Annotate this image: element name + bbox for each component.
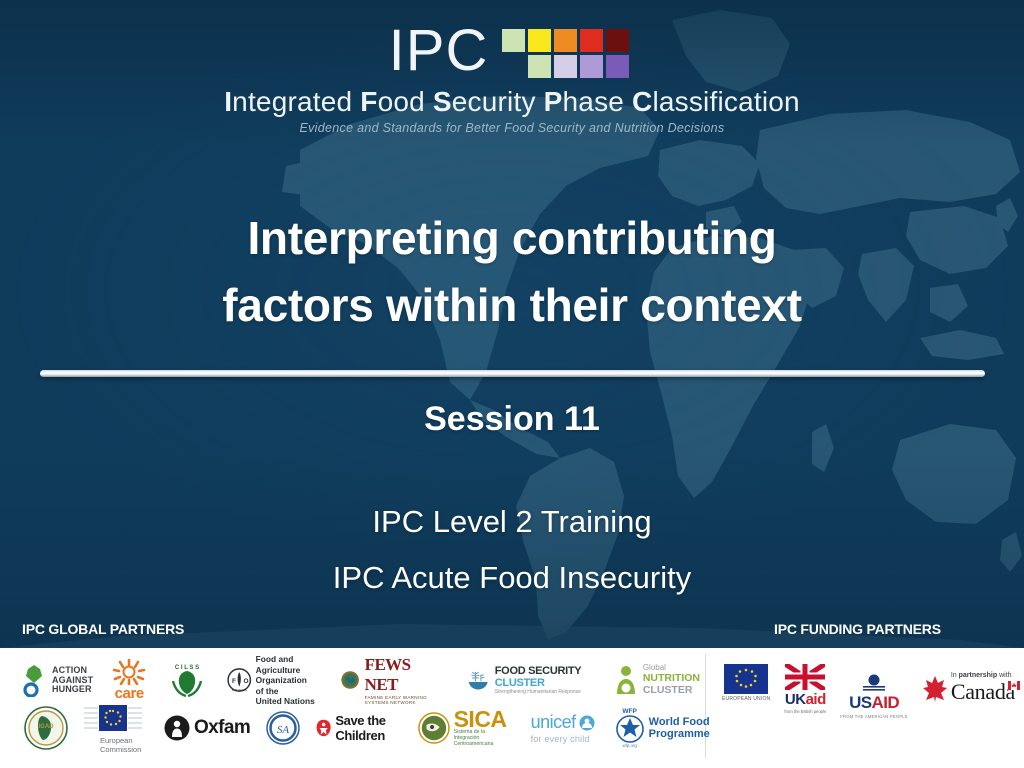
logo-uk-aid: UKaid from the British people: [784, 664, 826, 714]
title-divider: [40, 370, 985, 377]
funding-partner-logos: EUROPEAN UNION UKaid from the British pe…: [712, 648, 1024, 768]
swatch-phase-5: [606, 29, 629, 52]
svg-text:SA: SA: [277, 724, 290, 736]
save-the-children-icon: [316, 713, 331, 743]
food-security-cluster-sublabel: Strengthening Humanitarian Response: [495, 689, 589, 695]
oxfam-label: Oxfam: [194, 717, 250, 739]
page-title: Interpreting contributing factors within…: [0, 205, 1024, 338]
ipc-name-f: F: [360, 86, 377, 117]
partner-logo-strip: ACTION AGAINST HUNGER: [0, 648, 1024, 768]
subtitle-line-1: IPC Level 2 Training: [0, 494, 1024, 550]
unicef-sublabel: for every child: [531, 734, 590, 744]
swatch-phase-3: [554, 29, 577, 52]
subtitle: IPC Level 2 Training IPC Acute Food Inse…: [0, 494, 1024, 607]
wfp-url: wfp.org: [622, 743, 636, 748]
swatch-chronic-3: [580, 55, 603, 78]
ipc-name-ood: ood: [378, 86, 433, 117]
swatch-chronic-1: [528, 55, 551, 78]
global-logo-row-2: IGAD: [24, 702, 710, 754]
ipc-name-i: I: [224, 86, 232, 117]
fews-net-text-block: FEWS NET FAMINE EARLY WARNING SYSTEMS NE…: [365, 655, 443, 705]
igad-icon: IGAD: [24, 706, 68, 750]
unicef-label: unicef: [531, 712, 576, 733]
funding-partners-heading: IPC FUNDING PARTNERS: [774, 621, 941, 637]
fews-net-icon: [340, 665, 360, 695]
logo-save-the-children: Save the Children: [316, 713, 396, 743]
wfp-acronym: WFP: [622, 708, 636, 715]
logo-european-union: EUROPEAN UNION: [722, 664, 770, 702]
care-icon: [111, 659, 147, 685]
food-security-cluster-text-block: FOOD SECURITY CLUSTER Strengthening Huma…: [495, 665, 589, 695]
logo-world-food-programme: WFP wfp.org World Food Programme: [615, 708, 710, 748]
uk-aid-sublabel: from the British people: [784, 709, 826, 714]
svg-text:O: O: [244, 678, 249, 685]
sadc-icon: SA: [266, 711, 300, 745]
sica-sublabel: Sistema de la Integración Centroamerican…: [454, 730, 509, 747]
global-logo-row-1: ACTION AGAINST HUNGER: [20, 654, 700, 707]
fao-label: Food and Agriculture Organization of the…: [256, 654, 317, 707]
usaid-seal-icon: [861, 674, 887, 692]
ipc-logo: IPC Integrated Food Security Phase Class…: [0, 22, 1024, 135]
logo-sica: SICA Sistema de la Integración Centroame…: [418, 709, 509, 748]
action-against-hunger-icon: [20, 663, 48, 697]
logo-usaid: USAID FROM THE AMERICAN PEOPLE: [840, 664, 908, 719]
title-line-1: Interpreting contributing: [0, 205, 1024, 272]
svg-text:FIAT PANIS: FIAT PANIS: [232, 688, 247, 692]
swatch-phase-4: [580, 29, 603, 52]
canada-label: Canada: [951, 679, 1015, 705]
unicef-globe-icon: [579, 715, 595, 731]
logo-fao: F O FIAT PANIS Food and Agriculture Orga…: [227, 654, 316, 707]
canada-wordmark: Canada: [951, 679, 1020, 705]
canada-partnership-line: In partnership with: [951, 672, 1012, 679]
canada-text-block: In partnership with Canada: [951, 672, 1020, 705]
global-partners-heading: IPC GLOBAL PARTNERS: [22, 621, 184, 637]
ipc-phase-swatches: [502, 25, 629, 78]
save-the-children-label: Save the Children: [335, 713, 395, 743]
fews-net-label: FEWS NET: [365, 655, 443, 695]
logo-european-commission: European Commission: [84, 702, 142, 754]
svg-text:F: F: [232, 678, 236, 685]
global-partner-logos: ACTION AGAINST HUNGER: [0, 648, 700, 768]
food-security-cluster-icon: [466, 664, 490, 696]
subtitle-line-2: IPC Acute Food Insecurity: [0, 550, 1024, 606]
logo-canada: In partnership with Canada: [922, 664, 1020, 705]
title-line-2: factors within their context: [0, 272, 1024, 339]
world-food-programme-icon: [615, 715, 645, 743]
usaid-sublabel: FROM THE AMERICAN PEOPLE: [840, 714, 908, 719]
european-commission-icon: [84, 702, 142, 736]
ipc-full-name: Integrated Food Security Phase Classific…: [0, 86, 1024, 118]
wfp-mark-block: WFP wfp.org: [615, 708, 645, 748]
action-against-hunger-label: ACTION AGAINST HUNGER: [52, 666, 93, 694]
care-label: care: [115, 685, 144, 702]
swatch-phase-1: [502, 29, 525, 52]
swatch-row-top: [502, 29, 629, 52]
oxfam-icon: [164, 715, 190, 741]
unicef-wordmark: unicef: [531, 712, 595, 733]
logo-care: care: [111, 659, 147, 702]
ipc-name-ntegrated: ntegrated: [232, 86, 360, 117]
swatch-row-bottom: [528, 55, 629, 78]
ipc-tagline: Evidence and Standards for Better Food S…: [0, 121, 1024, 135]
logo-global-nutrition-cluster: Global NUTRITION CLUSTER: [613, 664, 700, 696]
logo-food-security-cluster: FOOD SECURITY CLUSTER Strengthening Huma…: [466, 664, 588, 696]
gnc-mid: NUTRITION: [643, 673, 700, 685]
logo-igad: IGAD: [24, 706, 68, 750]
logo-sadc: SA: [266, 711, 300, 745]
union-jack-icon: [785, 664, 825, 690]
sica-label: SICA: [454, 709, 509, 731]
ipc-acronym: IPC: [389, 22, 489, 80]
ipc-name-lassification: lassification: [652, 86, 799, 117]
global-nutrition-cluster-text-block: Global NUTRITION CLUSTER: [643, 664, 700, 696]
wfp-label: World Food Programme: [649, 716, 710, 740]
ipc-name-c: C: [632, 86, 652, 117]
swatch-phase-2: [528, 29, 551, 52]
session-label: Session 11: [0, 400, 1024, 439]
maple-leaf-icon: [922, 675, 948, 703]
svg-text:IGAD: IGAD: [39, 724, 55, 730]
logo-action-against-hunger: ACTION AGAINST HUNGER: [20, 663, 93, 697]
logo-cilss: C I L S S: [165, 661, 209, 699]
ipc-name-s: S: [433, 86, 452, 117]
ipc-logo-mark: IPC: [389, 22, 630, 80]
uk-aid-label: UKaid: [785, 691, 826, 708]
presentation-slide: IPC Integrated Food Security Phase Class…: [0, 0, 1024, 768]
usaid-label: USAID: [849, 693, 899, 713]
swatch-chronic-4: [606, 55, 629, 78]
sica-icon: [418, 711, 450, 745]
european-union-icon: [724, 664, 768, 694]
ipc-name-p: P: [544, 86, 563, 117]
cilss-icon: C I L S S: [165, 661, 209, 699]
sica-text-block: SICA Sistema de la Integración Centroame…: [454, 709, 509, 748]
canada-flag-icon: [1008, 681, 1020, 690]
svg-text:C I L S S: C I L S S: [175, 665, 199, 671]
ipc-name-ecurity: ecurity: [452, 86, 544, 117]
european-commission-caption: European Commission: [100, 737, 141, 754]
logo-unicef: unicef for every child: [531, 712, 595, 744]
logo-fews-net: FEWS NET FAMINE EARLY WARNING SYSTEMS NE…: [340, 655, 442, 705]
funding-logo-row: EUROPEAN UNION UKaid from the British pe…: [722, 664, 1020, 719]
ipc-name-hase: hase: [563, 86, 633, 117]
fao-icon: F O FIAT PANIS: [227, 663, 251, 697]
global-nutrition-cluster-icon: [613, 664, 639, 696]
logo-oxfam: Oxfam: [164, 715, 250, 741]
european-union-caption: EUROPEAN UNION: [722, 696, 770, 702]
swatch-chronic-2: [554, 55, 577, 78]
gnc-bottom: CLUSTER: [643, 685, 700, 697]
food-security-cluster-label: FOOD SECURITY CLUSTER: [495, 665, 589, 689]
